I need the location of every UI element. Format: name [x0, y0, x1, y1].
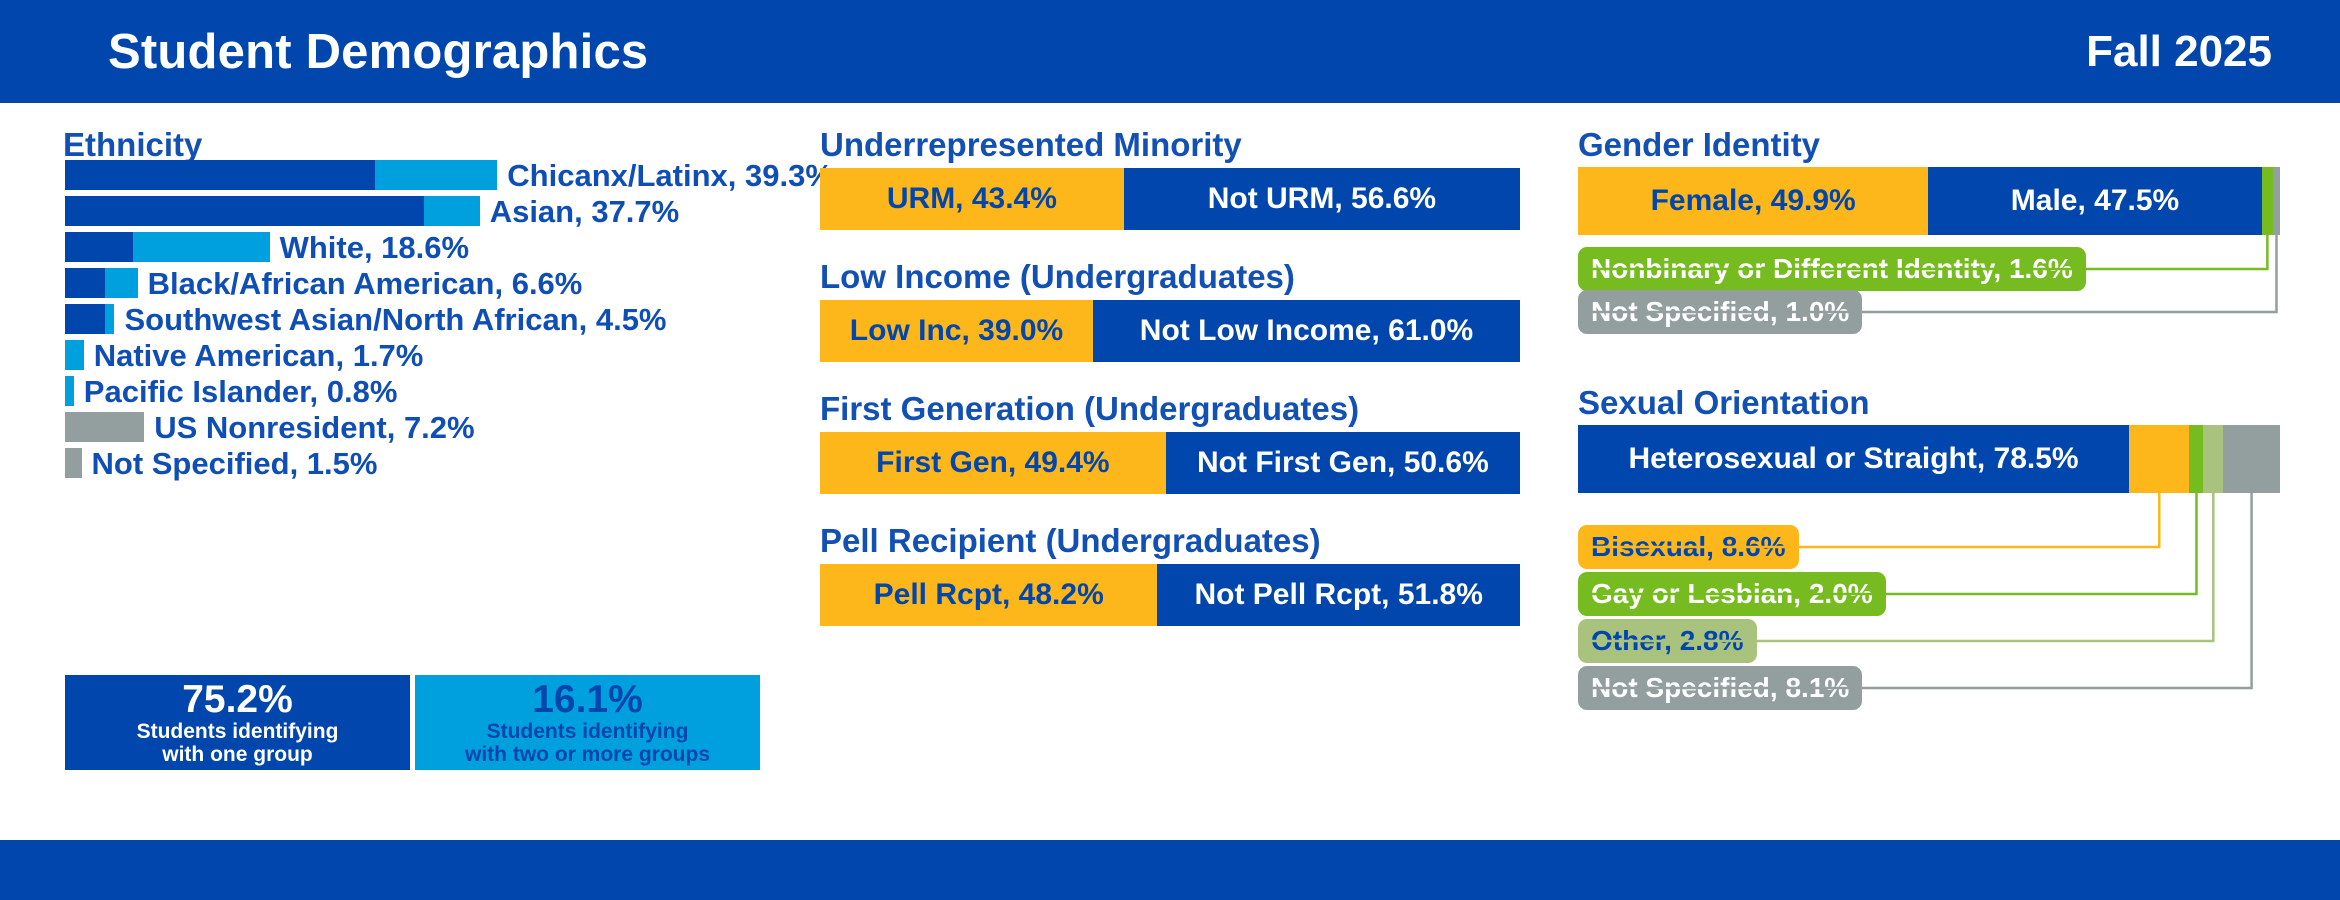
ethnicity-label: Asian, 37.7% [490, 196, 680, 227]
callout-label: Not Specified, 8.1% [1578, 666, 1862, 710]
bar-segment-two-or-more-groups [375, 160, 497, 190]
bar-segment [2189, 425, 2203, 493]
bar-segment-one-group [65, 304, 105, 334]
stacked-bar: Heterosexual or Straight, 78.5% [1578, 425, 2280, 493]
ethnicity-row: White, 18.6% [65, 232, 469, 262]
callout-label: Not Specified, 1.0% [1578, 290, 1862, 334]
ethnicity-row: Asian, 37.7% [65, 196, 679, 226]
ethnicity-bar [65, 196, 480, 226]
ethnicity-row: Chicanx/Latinx, 39.3% [65, 160, 833, 190]
bar-segment [2223, 425, 2280, 493]
page-header: Student Demographics Fall 2025 [0, 0, 2340, 103]
callout-label: Nonbinary or Different Identity, 1.6% [1578, 247, 2086, 291]
ethnicity-label: Pacific Islander, 0.8% [84, 376, 398, 407]
summary-caption-line1: Students identifying [137, 721, 339, 743]
section-title: First Generation (Undergraduates) [820, 392, 1359, 425]
bar-segment-two-or-more-groups [65, 376, 74, 406]
ethnicity-row: US Nonresident, 7.2% [65, 412, 475, 442]
bar-segment-two-or-more-groups [105, 304, 115, 334]
bar-segment [2262, 167, 2273, 235]
bar-segment-label: Low Inc, 39.0% [820, 300, 1093, 362]
bar-segment [2273, 167, 2280, 235]
ethnicity-row: Native American, 1.7% [65, 340, 423, 370]
ethnicity-label: Chicanx/Latinx, 39.3% [507, 160, 833, 191]
ethnicity-bar [65, 340, 84, 370]
bar-segment-label: Not First Gen, 50.6% [1166, 432, 1520, 494]
bar-segment-label: Male, 47.5% [1928, 167, 2261, 235]
ethnicity-row: Southwest Asian/North African, 4.5% [65, 304, 667, 334]
bar-segment-one-group [65, 268, 105, 298]
ethnicity-row: Not Specified, 1.5% [65, 448, 377, 478]
page-footer [0, 840, 2340, 900]
ethnicity-bar [65, 376, 74, 406]
ethnicity-label: US Nonresident, 7.2% [154, 412, 474, 443]
section-title: Underrepresented Minority [820, 128, 1242, 161]
ethnicity-row: Black/African American, 6.6% [65, 268, 582, 298]
bar-segment-one-group [65, 232, 133, 262]
bar-segment [2203, 425, 2223, 493]
bar-segment-label: Pell Rcpt, 48.2% [820, 564, 1157, 626]
page-title: Student Demographics [108, 24, 648, 80]
bar-segment-label: First Gen, 49.4% [820, 432, 1166, 494]
bar-segment-label: Heterosexual or Straight, 78.5% [1578, 425, 2129, 493]
ethnicity-bar [65, 268, 138, 298]
summary-percent: 16.1% [532, 680, 643, 720]
bar-segment-label: Female, 49.9% [1578, 167, 1928, 235]
bar-segment-two-or-more-groups [133, 232, 269, 262]
ethnicity-label: Southwest Asian/North African, 4.5% [124, 304, 666, 335]
summary-one-group: 75.2%Students identifyingwith one group [65, 675, 410, 770]
ethnicity-bar [65, 412, 144, 442]
bar-segment-not-reported [65, 448, 82, 478]
summary-percent: 75.2% [182, 680, 293, 720]
bar-segment [2129, 425, 2189, 493]
bar-segment-one-group [65, 196, 424, 226]
ethnicity-bar [65, 304, 114, 334]
bar-segment-two-or-more-groups [65, 340, 84, 370]
section-title: Low Income (Undergraduates) [820, 260, 1295, 293]
bar-segment-label: URM, 43.4% [820, 168, 1124, 230]
stacked-bar: URM, 43.4%Not URM, 56.6% [820, 168, 1520, 230]
ethnicity-bar [65, 448, 82, 478]
stacked-bar: Female, 49.9%Male, 47.5% [1578, 167, 2280, 235]
term-label: Fall 2025 [2086, 27, 2272, 77]
callout-label: Gay or Lesbian, 2.0% [1578, 572, 1886, 616]
summary-caption-line2: with two or more groups [465, 744, 710, 766]
section-title-ethnicity: Ethnicity [63, 128, 202, 161]
section-title: Gender Identity [1578, 128, 1820, 161]
ethnicity-bar [65, 160, 497, 190]
callout-label: Bisexual, 8.6% [1578, 525, 1799, 569]
ethnicity-label: White, 18.6% [280, 232, 470, 263]
ethnicity-row: Pacific Islander, 0.8% [65, 376, 397, 406]
bar-segment-label: Not URM, 56.6% [1124, 168, 1520, 230]
stacked-bar: Pell Rcpt, 48.2%Not Pell Rcpt, 51.8% [820, 564, 1520, 626]
stacked-bar: First Gen, 49.4%Not First Gen, 50.6% [820, 432, 1520, 494]
ethnicity-label: Black/African American, 6.6% [148, 268, 583, 299]
stacked-bar: Low Inc, 39.0%Not Low Income, 61.0% [820, 300, 1520, 362]
bar-segment-two-or-more-groups [424, 196, 480, 226]
bar-segment-not-reported [65, 412, 144, 442]
bar-segment-two-or-more-groups [105, 268, 138, 298]
ethnicity-label: Native American, 1.7% [94, 340, 424, 371]
summary-caption-line2: with one group [162, 744, 312, 766]
bar-segment-label: Not Low Income, 61.0% [1093, 300, 1520, 362]
bar-segment-label: Not Pell Rcpt, 51.8% [1157, 564, 1520, 626]
summary-caption-line1: Students identifying [487, 721, 689, 743]
bar-segment-one-group [65, 160, 375, 190]
section-title: Sexual Orientation [1578, 386, 1870, 419]
ethnicity-bar [65, 232, 270, 262]
ethnicity-label: Not Specified, 1.5% [92, 448, 378, 479]
section-title: Pell Recipient (Undergraduates) [820, 524, 1321, 557]
callout-label: Other, 2.8% [1578, 619, 1757, 663]
summary-two-or-more-groups: 16.1%Students identifyingwith two or mor… [415, 675, 760, 770]
